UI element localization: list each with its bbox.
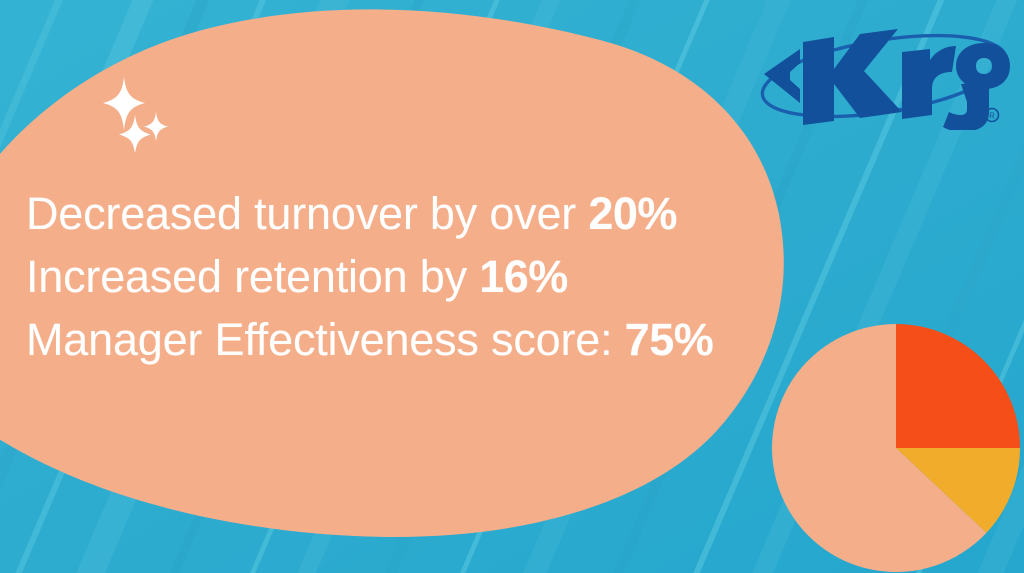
headline-line-3-prefix: Manager Effectiveness score:: [26, 314, 625, 365]
headline-line-3: Manager Effectiveness score: 75%: [26, 308, 786, 371]
sparkle-cluster: [100, 72, 200, 152]
headline-line-3-value: 75%: [625, 314, 714, 365]
kreg-logo: R: [756, 22, 1012, 130]
headline-line-1: Decreased turnover by over 20%: [26, 182, 786, 245]
svg-text:R: R: [989, 112, 995, 121]
headline-block: Decreased turnover by over 20% Increased…: [26, 182, 786, 371]
headline-line-2: Increased retention by 16%: [26, 245, 786, 308]
headline-line-2-value: 16%: [479, 251, 568, 302]
pie-chart-svg: [772, 324, 1020, 572]
pie-slice: [896, 324, 1020, 448]
pie-chart: [772, 324, 1020, 572]
headline-line-1-value: 20%: [588, 188, 677, 239]
headline-line-1-prefix: Decreased turnover by over: [26, 188, 588, 239]
slide-canvas: Decreased turnover by over 20% Increased…: [0, 0, 1024, 573]
headline-line-2-prefix: Increased retention by: [26, 251, 479, 302]
sparkle-icon: [103, 77, 168, 152]
